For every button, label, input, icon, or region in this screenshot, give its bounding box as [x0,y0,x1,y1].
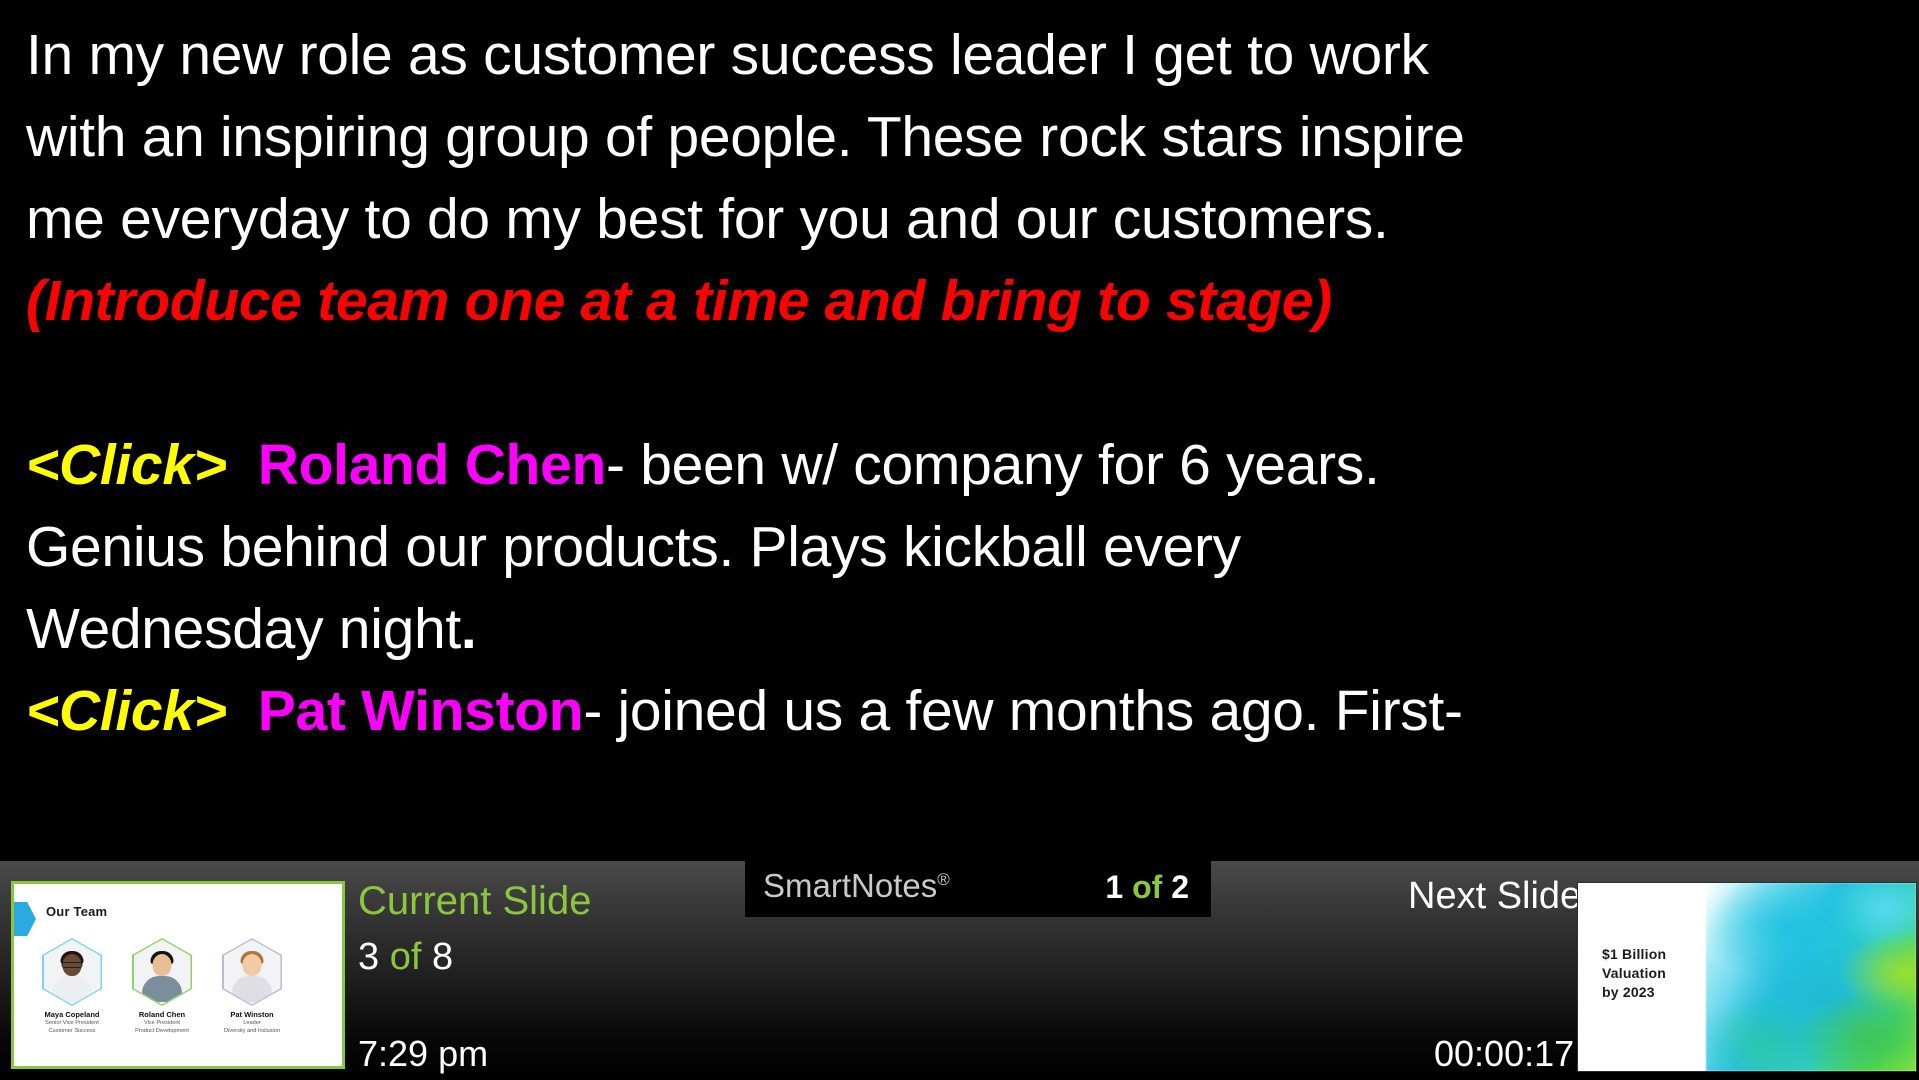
current-slide-thumbnail[interactable]: Our Team Maya Copeland Senior V [11,881,345,1069]
member-name: Maya Copeland [36,1010,108,1019]
headline-line: $1 Billion [1602,945,1666,964]
speaker-notes-panel[interactable]: In my new role as customer success leade… [0,0,1919,861]
presenter-name-highlight: Roland Chen [258,433,606,497]
team-member: Pat Winston Leader Diversity and Inclusi… [216,938,288,1035]
avatar [42,938,102,1006]
note-line: with an inspiring group of people. These… [26,96,1919,178]
note-line: In my new role as customer success leade… [26,14,1919,96]
slide-accent-chevron-icon [14,902,36,936]
headline-line: by 2023 [1602,983,1666,1002]
avatar [222,938,282,1006]
glasses-icon [62,962,83,968]
slide-counter-of: of [390,936,422,978]
current-slide-label: Current Slide [358,875,591,927]
note-line: Genius behind our products. Plays kickba… [26,506,1919,588]
note-line-click-pat: <Click> Pat Winston- joined us a few mon… [26,670,1919,752]
notes-page-of: of [1132,869,1162,905]
elapsed-timer: 00:00:17 [1434,1033,1574,1075]
slide-number-current: 3 [358,936,379,978]
slide-title: Our Team [46,904,107,919]
note-line-stage-cue: (Introduce team one at a time and bring … [26,260,1919,342]
smartnotes-brand-label: SmartNotes® [763,867,950,905]
note-line: me everyday to do my best for you and ou… [26,178,1919,260]
team-member: Maya Copeland Senior Vice President Cust… [36,938,108,1035]
click-cue-marker: <Click> [26,433,227,497]
registered-trademark-icon: ® [937,870,950,889]
team-member-row: Maya Copeland Senior Vice President Cust… [36,938,326,1035]
note-bold-period: . [461,597,477,661]
slide-number-total: 8 [432,936,453,978]
note-body-text: Wednesday night [26,597,461,661]
notes-page-counter: 1 of 2 [1105,869,1189,906]
note-body-text: - been w/ company for 6 years. [606,433,1380,497]
slide-our-team: Our Team Maya Copeland Senior V [14,884,342,1066]
note-body-text: - joined us a few months ago. First- [583,679,1462,743]
next-slide-thumbnail[interactable]: $1 Billion Valuation by 2023 [1577,882,1917,1072]
notes-page-current: 1 [1105,869,1123,905]
slide-valuation: $1 Billion Valuation by 2023 [1578,883,1916,1071]
current-slide-counter: 3 of 8 [358,932,591,982]
presenter-status-bar: Our Team Maya Copeland Senior V [0,861,1919,1080]
member-name: Pat Winston [216,1010,288,1019]
member-role-line: Diversity and Inclusion [216,1028,288,1035]
member-name: Roland Chen [126,1010,198,1019]
team-member: Roland Chen Vice President Product Devel… [126,938,198,1035]
member-role-line: Customer Success [36,1028,108,1035]
clock-time: 7:29 pm [358,1033,488,1075]
ink-fade-overlay [1666,883,1707,1071]
member-role-line: Leader [216,1020,288,1027]
smartnotes-header-chip: SmartNotes® 1 of 2 [745,861,1211,917]
slide-headline: $1 Billion Valuation by 2023 [1602,945,1666,1002]
ink-splash-image [1706,883,1916,1071]
presenter-name-highlight: Pat Winston [258,679,584,743]
smartnotes-brand-text: SmartNotes [763,867,937,904]
member-role-line: Product Development [126,1028,198,1035]
current-slide-info: Current Slide 3 of 8 [358,875,591,982]
headline-line: Valuation [1602,964,1666,983]
presenter-view-window: In my new role as customer success leade… [0,0,1919,1080]
member-role-line: Vice President [126,1020,198,1027]
notes-page-total: 2 [1171,869,1189,905]
avatar [132,938,192,1006]
member-role-line: Senior Vice President [36,1020,108,1027]
note-line-wednesday: Wednesday night. [26,588,1919,670]
next-slide-label: Next Slide [1408,875,1581,918]
note-line-click-roland: <Click> Roland Chen- been w/ company for… [26,424,1919,506]
click-cue-marker: <Click> [26,679,227,743]
note-line-blank [26,342,1919,424]
